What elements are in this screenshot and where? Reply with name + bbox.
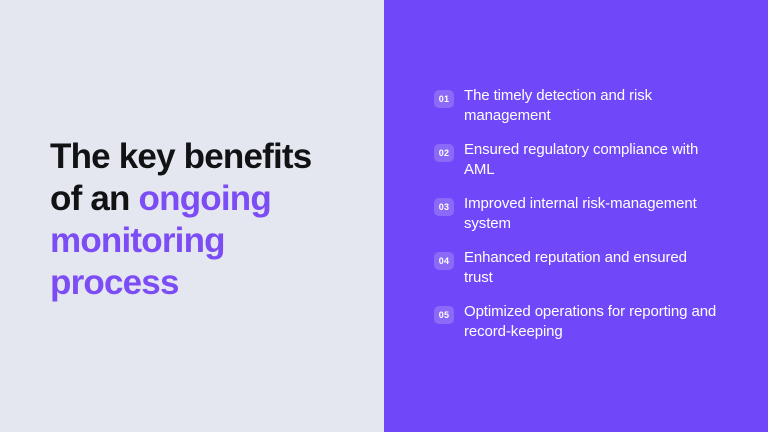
list-item: 02 Ensured regulatory compliance with AM…: [434, 140, 734, 194]
headline-line-2-plain: of an: [50, 179, 139, 218]
list-item-label: Enhanced reputation and ensured trust: [464, 248, 718, 287]
list-item: 01 The timely detection and risk managem…: [434, 86, 734, 140]
list-item-label: The timely detection and risk management: [464, 86, 718, 125]
list-item-number-badge: 04: [434, 252, 454, 270]
headline-line-4-accent: process: [50, 263, 179, 302]
headline-line-2-accent: ongoing: [139, 179, 271, 218]
list-item: 05 Optimized operations for reporting an…: [434, 302, 734, 356]
page-title: The key benefits of an ongoing monitorin…: [50, 136, 370, 304]
left-panel: The key benefits of an ongoing monitorin…: [0, 0, 384, 432]
list-item-label: Optimized operations for reporting and r…: [464, 302, 718, 341]
list-item-number-badge: 01: [434, 90, 454, 108]
headline-line-3-accent: monitoring: [50, 221, 225, 260]
list-item-number-badge: 03: [434, 198, 454, 216]
right-panel: 01 The timely detection and risk managem…: [384, 0, 768, 432]
list-item-label: Improved internal risk-management system: [464, 194, 718, 233]
list-item-number-badge: 05: [434, 306, 454, 324]
headline-line-1: The key benefits: [50, 137, 311, 176]
list-item: 03 Improved internal risk-management sys…: [434, 194, 734, 248]
slide-root: The key benefits of an ongoing monitorin…: [0, 0, 768, 432]
list-item: 04 Enhanced reputation and ensured trust: [434, 248, 734, 302]
list-item-label: Ensured regulatory compliance with AML: [464, 140, 718, 179]
benefits-list: 01 The timely detection and risk managem…: [434, 86, 734, 356]
list-item-number-badge: 02: [434, 144, 454, 162]
